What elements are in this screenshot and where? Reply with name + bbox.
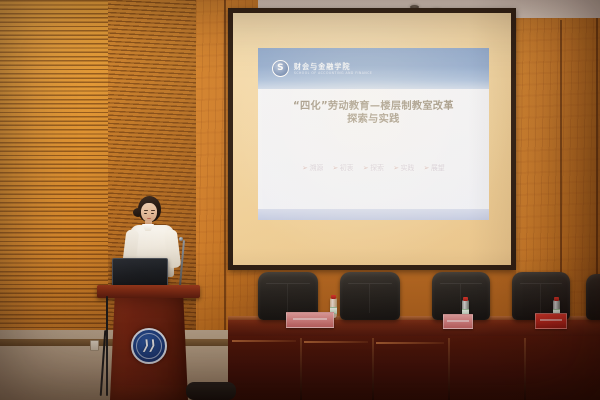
bullet-arrow-icon: ➢	[302, 164, 308, 172]
table-panel-highlight	[304, 341, 368, 343]
school-name-en: SCHOOL OF ACCOUNTING AND FINANCE	[294, 72, 372, 75]
name-card-text-line	[540, 319, 563, 321]
chair-stitch	[287, 284, 289, 314]
bottle-cap	[331, 295, 336, 299]
school-name-block: 财会与金融学院 SCHOOL OF ACCOUNTING AND FINANCE	[294, 63, 372, 75]
table-panel-seam	[372, 338, 374, 400]
slide-bullet-item: ➢展望	[423, 163, 444, 173]
table-panel-seam	[300, 338, 302, 400]
slide-header: S 财会与金融学院 SCHOOL OF ACCOUNTING AND FINAN…	[258, 48, 489, 89]
speaker-eye	[144, 213, 147, 215]
table-panel-seam	[524, 338, 526, 400]
slide-title-line-1: “四化”劳动教育—楼层制教室改革	[293, 101, 454, 112]
university-emblem-icon: ⟩⟩	[131, 328, 167, 364]
slide-bullet-item: ➢溯源	[302, 163, 323, 173]
conference-hall-photo: S 财会与金融学院 SCHOOL OF ACCOUNTING AND FINAN…	[0, 0, 600, 400]
name-card-text-line	[293, 318, 328, 320]
foreground-furniture	[186, 382, 236, 400]
chair-backrest	[586, 274, 600, 320]
speaker-mouth	[147, 218, 151, 220]
slide-title-line-2: 探索与实践	[258, 113, 489, 126]
name-card	[286, 312, 334, 328]
projection-screen: S 财会与金融学院 SCHOOL OF ACCOUNTING AND FINAN…	[228, 8, 516, 270]
conference-chair	[432, 272, 490, 320]
conference-chair	[340, 272, 400, 320]
speaker-brow	[151, 210, 155, 211]
bullet-arrow-icon: ➢	[363, 164, 369, 172]
power-outlet	[90, 340, 99, 351]
table-panel-highlight	[376, 342, 444, 344]
school-name-cn: 财会与金融学院	[294, 63, 372, 70]
slide-bullet-item: ➢探索	[363, 163, 384, 173]
slide-bullet-label: 实践	[400, 164, 414, 172]
speaker-eye	[151, 213, 154, 215]
name-card	[443, 314, 473, 329]
slide-bullet-item: ➢实践	[393, 163, 414, 173]
slide-title: “四化”劳动教育—楼层制教室改革 探索与实践	[258, 100, 489, 127]
bottle-cap	[463, 297, 468, 301]
slide-bullet-label: 溯源	[309, 164, 323, 172]
bullet-arrow-icon: ➢	[423, 164, 429, 172]
bottle-cap	[554, 297, 559, 301]
slide-footer-band	[258, 209, 489, 219]
projection-screen-surface: S 财会与金融学院 SCHOOL OF ACCOUNTING AND FINAN…	[233, 13, 511, 265]
name-card	[535, 313, 567, 329]
slide-bullet-label: 探索	[370, 164, 384, 172]
school-logo-icon: S	[272, 60, 289, 77]
bullet-arrow-icon: ➢	[393, 164, 399, 172]
chair-stitch	[540, 284, 542, 314]
podium-top-surface	[97, 285, 200, 298]
speaker-brow	[144, 210, 148, 211]
conference-chair	[586, 274, 600, 320]
table-panel-highlight	[232, 340, 296, 342]
chair-stitch	[369, 284, 371, 314]
conference-table-front	[228, 336, 600, 400]
name-card-text-line	[447, 320, 468, 322]
presentation-slide: S 财会与金融学院 SCHOOL OF ACCOUNTING AND FINAN…	[258, 48, 489, 219]
table-panel-seam	[448, 338, 450, 400]
slide-bullet-label: 初衷	[340, 164, 354, 172]
speaker-face	[141, 203, 157, 222]
emblem-mark: ⟩⟩	[141, 339, 157, 353]
slide-bullet-label: 展望	[431, 164, 445, 172]
podium-cable	[106, 296, 108, 396]
microphone-head	[179, 237, 183, 241]
slide-bullet-list: ➢溯源 ➢初衷 ➢探索 ➢实践 ➢展望	[258, 163, 489, 173]
bullet-arrow-icon: ➢	[332, 164, 338, 172]
slide-bullet-item: ➢初衷	[332, 163, 353, 173]
